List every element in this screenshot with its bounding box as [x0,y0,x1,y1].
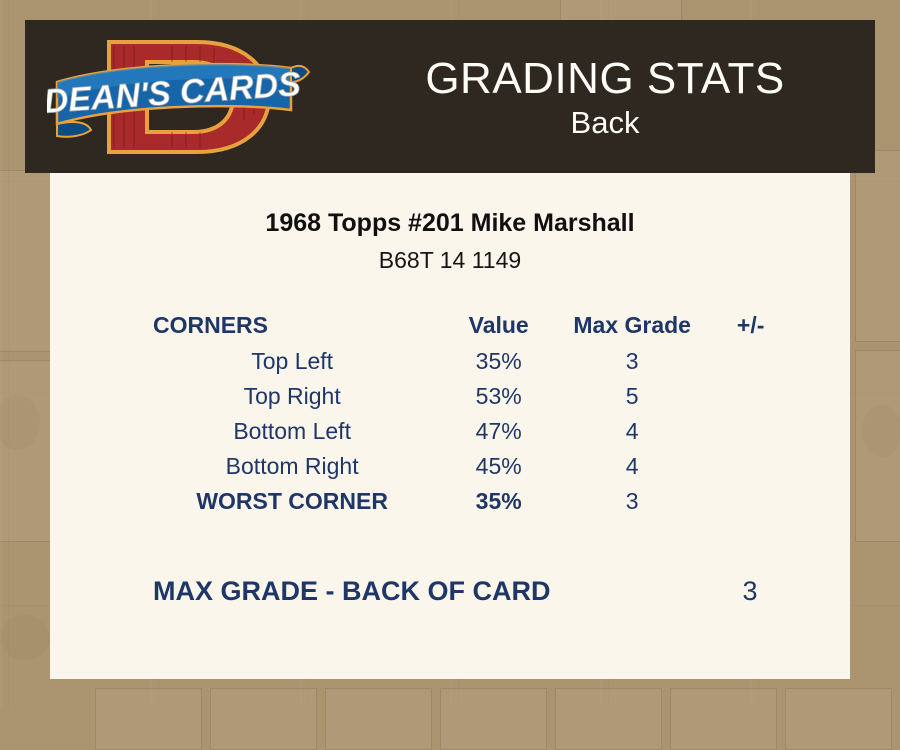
column-header-corners: CORNERS [145,306,439,344]
row-plus-minus [706,414,795,449]
table-body: Top Left 35% 3 Top Right 53% 5 Bottom Le… [145,344,795,519]
row-value: 45% [439,449,558,484]
card-subtitle: B68T 14 1149 [50,247,850,274]
table-header-row: CORNERS Value Max Grade +/- [145,306,795,344]
table-row: Top Right 53% 5 [145,379,795,414]
row-label: WORST CORNER [145,484,439,519]
row-max-grade: 3 [558,344,706,379]
content-panel: 1968 Topps #201 Mike Marshall B68T 14 11… [50,173,850,679]
table-row: Bottom Left 47% 4 [145,414,795,449]
row-value: 53% [439,379,558,414]
page-subtitle: Back [571,104,640,143]
table-row: Bottom Right 45% 4 [145,449,795,484]
row-max-grade: 3 [558,484,706,519]
column-header-plus-minus: +/- [706,306,795,344]
max-grade-value: 3 [705,576,795,607]
table-head: CORNERS Value Max Grade +/- [145,306,795,344]
row-plus-minus [706,344,795,379]
header-title-group: GRADING STATS Back [335,20,875,173]
background-card-decoration [325,688,432,750]
row-max-grade: 4 [558,414,706,449]
background-card-decoration [210,688,317,750]
background-card-decoration [95,688,202,750]
row-label: Top Left [145,344,439,379]
grading-stats-table: CORNERS Value Max Grade +/- Top Left 35%… [145,306,795,519]
background-card-decoration [670,688,777,750]
row-label: Bottom Right [145,449,439,484]
background-card-decoration [440,688,547,750]
row-label: Bottom Left [145,414,439,449]
background-card-decoration [855,150,900,342]
column-header-max-grade: Max Grade [558,306,706,344]
row-label: Top Right [145,379,439,414]
page-title: GRADING STATS [425,56,784,102]
card-title: 1968 Topps #201 Mike Marshall [50,209,850,238]
page-root: DEAN'S CARDS GRADING STATS Back 1968 Top… [0,0,900,707]
background-card-decoration [555,688,662,750]
table-row-worst-corner: WORST CORNER 35% 3 [145,484,795,519]
row-max-grade: 4 [558,449,706,484]
background-blob-decoration [862,405,900,457]
background-card-decoration [560,0,682,22]
row-plus-minus [706,379,795,414]
row-value: 47% [439,414,558,449]
header-bar: DEAN'S CARDS GRADING STATS Back [25,20,875,173]
background-card-decoration [785,688,892,750]
row-value: 35% [439,344,558,379]
row-value: 35% [439,484,558,519]
max-grade-label: MAX GRADE - BACK OF CARD [145,576,705,607]
deans-cards-logo[interactable]: DEAN'S CARDS [47,24,315,169]
column-header-value: Value [439,306,558,344]
row-plus-minus [706,449,795,484]
background-blob-decoration [0,615,50,660]
row-plus-minus [706,484,795,519]
row-max-grade: 5 [558,379,706,414]
max-grade-summary: MAX GRADE - BACK OF CARD 3 [145,576,795,607]
table-row: Top Left 35% 3 [145,344,795,379]
